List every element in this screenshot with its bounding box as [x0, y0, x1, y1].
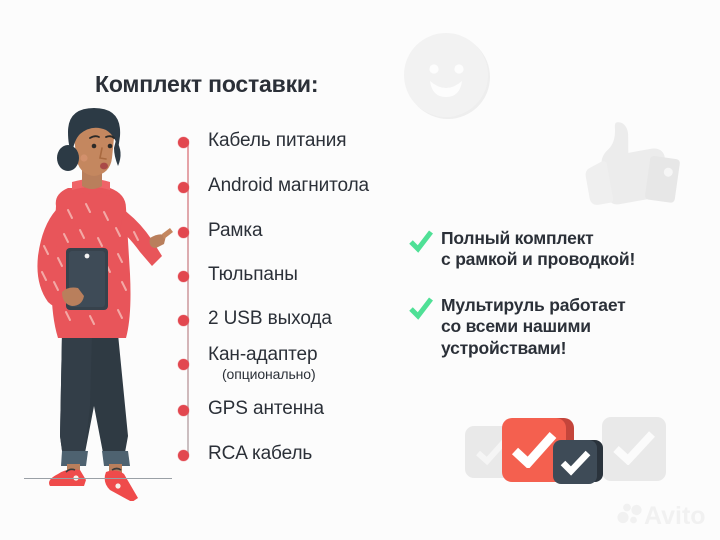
- green-check-icon: [408, 229, 434, 255]
- bullet-dot-icon: [178, 182, 189, 193]
- list-item-label: GPS антенна: [208, 399, 324, 420]
- list-item: Кабель питания: [178, 131, 346, 152]
- avito-wordmark: Avito: [644, 502, 706, 530]
- ground-line: [24, 478, 172, 479]
- benefit-item: Мультируль работает со всеми нашими устр…: [408, 295, 626, 359]
- dark-checkbox-card: [553, 440, 597, 484]
- list-item: RCA кабель: [178, 444, 312, 465]
- woman-pointing-illustration: [6, 106, 181, 501]
- list-item: 2 USB выхода: [178, 309, 332, 330]
- list-item-label: Android магнитола: [208, 176, 369, 197]
- list-item: Кан-адаптер (опционально): [178, 345, 318, 382]
- page-title: Комплект поставки:: [95, 71, 318, 98]
- checkbox-cards-decoration: [462, 414, 692, 494]
- list-item: Рамка: [178, 221, 262, 242]
- benefit-line-2: с рамкой и проводкой!: [441, 249, 635, 269]
- green-check-icon: [408, 296, 434, 322]
- benefit-line-1: Мультируль работает: [441, 295, 626, 315]
- list-item-label: Тюльпаны: [208, 265, 298, 286]
- thumbs-up-icon: [578, 110, 690, 215]
- benefit-item: Полный комплект с рамкой и проводкой!: [408, 228, 635, 271]
- bullet-dot-icon: [178, 271, 189, 282]
- avito-watermark: Avito: [616, 498, 712, 530]
- gray-checkbox-card: [602, 417, 666, 481]
- promo-image-canvas: Комплект поставки: Кабель питания Androi…: [0, 0, 720, 540]
- bullet-dot-icon: [178, 137, 189, 148]
- benefit-line-1: Полный комплект: [441, 228, 594, 248]
- list-item-label: 2 USB выхода: [208, 309, 332, 330]
- benefit-line-3: устройствами!: [441, 338, 566, 358]
- bullet-dot-icon: [178, 359, 189, 370]
- list-item-label: Рамка: [208, 221, 262, 242]
- smiley-face-icon: [402, 31, 494, 123]
- list-item-sublabel: (опционально): [222, 367, 318, 382]
- bullet-dot-icon: [178, 227, 189, 238]
- bullet-dot-icon: [178, 315, 189, 326]
- list-item: Android магнитола: [178, 176, 369, 197]
- list-item-label: Кан-адаптер: [208, 345, 318, 366]
- list-item-label: RCA кабель: [208, 444, 312, 465]
- list-item: Тюльпаны: [178, 265, 298, 286]
- list-item-label: Кабель питания: [208, 131, 346, 152]
- benefit-line-2: со всеми нашими: [441, 316, 591, 336]
- bullet-dot-icon: [178, 405, 189, 416]
- package-contents-list: Кабель питания Android магнитола Рамка Т…: [178, 131, 428, 461]
- bullet-dot-icon: [178, 450, 189, 461]
- list-item: GPS антенна: [178, 399, 324, 420]
